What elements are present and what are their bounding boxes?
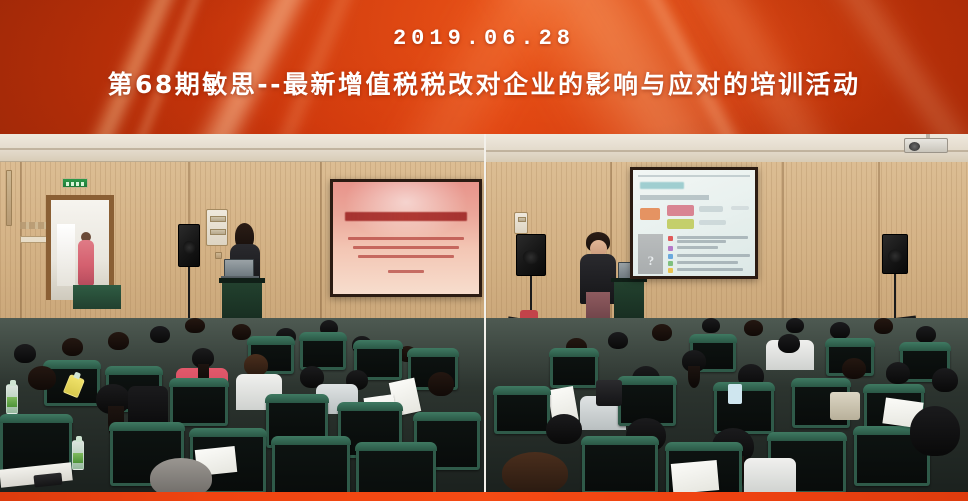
auditorium-seat [300, 334, 346, 370]
doorway [46, 195, 114, 300]
podium-top [219, 278, 265, 283]
slide-white: ? [633, 170, 755, 276]
slide-bullet [668, 236, 673, 241]
speaker-stand [894, 274, 896, 322]
attendee-head [886, 362, 910, 384]
attendee-head [185, 318, 205, 333]
slide-bullet-text [677, 246, 718, 249]
audience-seating [486, 318, 968, 493]
handout-paper [671, 460, 719, 493]
slide-text-line [358, 255, 454, 258]
photo-right: ? [484, 134, 968, 493]
auditorium-seat [714, 384, 774, 434]
attendee-head [778, 334, 800, 353]
attendee-head [502, 452, 568, 493]
header-banner: 2019.06.28 第68期敏思--最新增值税税改对企业的影响与应对的培训活动 [0, 0, 968, 134]
projection-screen [330, 179, 482, 297]
attendee-shirt [744, 458, 796, 493]
laptop-screen [224, 259, 254, 277]
attendee-head [28, 366, 56, 390]
attendee-head [244, 354, 268, 376]
wall-edge-strip [6, 170, 12, 226]
slide-bullet [668, 254, 673, 259]
slide-bullet-text [677, 254, 750, 257]
slide-bullet [668, 268, 673, 273]
attendee-head [830, 322, 850, 339]
registration-table [73, 285, 121, 309]
attendee-ponytail [688, 366, 700, 388]
projection-screen: ? [630, 167, 758, 279]
auditorium-seat [356, 444, 436, 493]
slide-text-line [353, 246, 458, 249]
auditorium-seat [272, 438, 350, 493]
attendee-head [910, 406, 960, 456]
exit-sign-icon [62, 178, 88, 188]
slide-bullet [668, 246, 673, 251]
auditorium-seat [550, 350, 598, 388]
mobile-phone [33, 473, 62, 488]
attendee-head [14, 344, 36, 363]
bottle-label [7, 397, 17, 407]
question-mark-icon: ? [648, 253, 655, 269]
ceiling-seam [0, 148, 484, 150]
wall-switch [215, 252, 222, 259]
attendee-head [108, 332, 129, 350]
loudspeaker-icon [882, 234, 908, 274]
attendee-head [62, 338, 83, 356]
slide-subtext [640, 195, 708, 199]
slide-bullet-text [677, 261, 738, 264]
auditorium-seat [494, 388, 550, 434]
attendee-head [150, 326, 170, 343]
event-date: 2019.06.28 [393, 26, 575, 51]
drink-bottle [6, 384, 18, 414]
slide-box-orange [640, 208, 660, 220]
attendee-head [744, 320, 763, 336]
attendee-head [702, 318, 720, 333]
slide-bullet-text [677, 268, 743, 271]
slide-bullet-text [677, 236, 748, 239]
backpack [596, 380, 622, 406]
ceiling [486, 134, 968, 164]
wall-control-unit [206, 209, 228, 246]
projector-icon [904, 138, 948, 153]
person-in-doorway [78, 240, 94, 286]
slide-title [345, 212, 468, 221]
attendee-head [150, 458, 212, 493]
slide-note [699, 206, 723, 212]
door-inner-panel [57, 224, 75, 286]
attendee-head [652, 324, 672, 341]
attendee-head [916, 326, 936, 343]
event-banner-page: 2019.06.28 第68期敏思--最新增值税税改对企业的影响与应对的培训活动 [0, 0, 968, 501]
slide-note [731, 206, 749, 210]
slide-box-pink [667, 205, 694, 216]
footer-strip [0, 492, 968, 501]
audience-seating [0, 318, 484, 493]
banner-text-block: 2019.06.28 第68期敏思--最新增值税税改对企业的影响与应对的培训活动 [0, 0, 968, 134]
wall-control-unit [514, 212, 528, 234]
slide-red [333, 182, 479, 294]
drink-bottle [72, 440, 84, 470]
bottle-label [73, 453, 83, 463]
loudspeaker-icon [178, 224, 200, 267]
auditorium-seat [170, 380, 228, 426]
attendee-head [608, 332, 628, 349]
attendee-head [874, 318, 893, 334]
event-title: 第68期敏思--最新增值税税改对企业的影响与应对的培训活动 [107, 65, 860, 101]
handbag [830, 392, 860, 420]
slide-box-green [667, 219, 694, 230]
slide-text-line [348, 237, 465, 240]
photo-left [0, 134, 484, 493]
auditorium-seat [582, 438, 658, 493]
attendee-head [546, 414, 582, 444]
attendee-head [842, 358, 866, 379]
slide-bullet-text [677, 240, 726, 243]
slide-bullet [668, 261, 673, 266]
slide-note [699, 220, 726, 225]
attendee-head [932, 368, 958, 392]
mobile-phone [728, 384, 742, 404]
attendee-head [786, 318, 804, 333]
slide-heading [640, 182, 684, 189]
ceiling-seam [486, 150, 968, 152]
slide-text-line [388, 270, 423, 273]
photo-row: ? [0, 134, 968, 493]
slide-top-rule [638, 175, 750, 177]
attendee-head [428, 372, 454, 396]
loudspeaker-icon [516, 234, 546, 276]
